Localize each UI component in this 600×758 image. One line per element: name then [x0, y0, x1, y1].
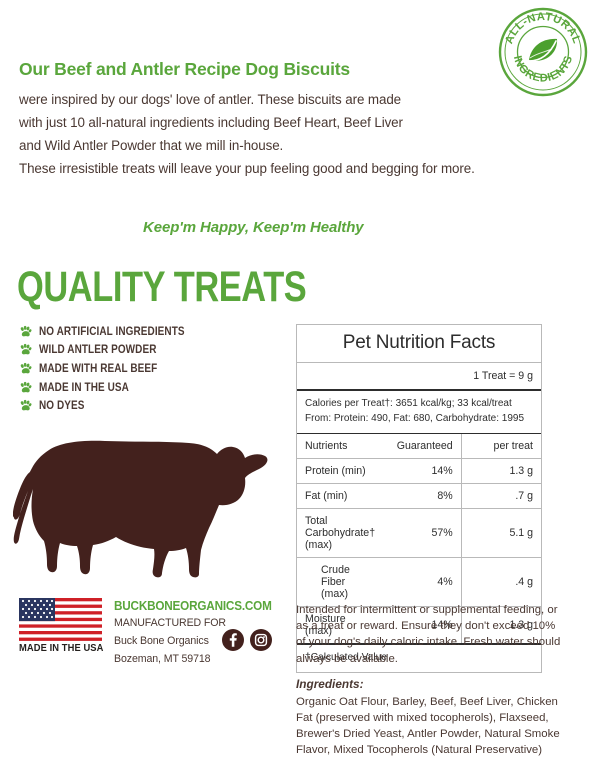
feeding-text: Intended for intermittent or supplementa…: [296, 602, 564, 667]
list-item: NO ARTIFICIAL INGREDIENTS: [19, 322, 274, 341]
list-item: WILD ANTLER POWDER: [19, 341, 274, 360]
cow-svg: [13, 432, 278, 590]
company-address: Bozeman, MT 59718: [114, 652, 244, 667]
social-links: [222, 629, 272, 651]
table-row: Crude Fiber (max) 4% .4 g: [297, 558, 541, 607]
feeding-instructions-block: Intended for intermittent or supplementa…: [296, 602, 564, 758]
nutrient-guaranteed: 14%: [383, 459, 461, 484]
instagram-icon[interactable]: [250, 629, 272, 651]
nutrient-guaranteed: 4%: [383, 558, 461, 607]
intro-line-2: with just 10 all-natural ingredients inc…: [19, 111, 489, 134]
column-header-nutrients: Nutrients: [297, 434, 383, 459]
leaf-icon: [529, 39, 557, 61]
nutrition-panel-title: Pet Nutrition Facts: [297, 325, 541, 362]
column-header-per-treat: per treat: [461, 434, 541, 459]
nutrient-per-treat: 5.1 g: [461, 509, 541, 558]
serving-size: 1 Treat = 9 g: [297, 362, 541, 389]
nutrient-guaranteed: 8%: [383, 484, 461, 509]
calories-block: Calories per Treat†: 3651 kcal/kg; 33 kc…: [297, 389, 541, 433]
table-row: Protein (min) 14% 1.3 g: [297, 459, 541, 484]
calories-line-1: Calories per Treat†: 3651 kcal/kg; 33 kc…: [305, 397, 533, 412]
ingredients-text: Organic Oat Flour, Barley, Beef, Beef Li…: [296, 694, 564, 758]
all-natural-ingredients-badge: ALL-NATURAL INGREDIENTS: [497, 6, 589, 98]
made-in-usa-label: MADE IN THE USA: [19, 643, 94, 654]
feature-label: WILD ANTLER POWDER: [39, 343, 156, 356]
table-row: Total Carbohydrate† (max) 57% 5.1 g: [297, 509, 541, 558]
table-header-row: Nutrients Guaranteed per treat: [297, 434, 541, 459]
nutrient-guaranteed: 57%: [383, 509, 461, 558]
intro-line-3: and Wild Antler Powder that we mill in-h…: [19, 134, 489, 157]
nutrient-per-treat: .4 g: [461, 558, 541, 607]
table-row: Fat (min) 8% .7 g: [297, 484, 541, 509]
website-link[interactable]: BUCKBONEORGANICS.COM: [114, 599, 235, 613]
nutrient-per-treat: 1.3 g: [461, 459, 541, 484]
badge-svg: ALL-NATURAL INGREDIENTS: [497, 6, 589, 98]
feature-label: MADE WITH REAL BEEF: [39, 362, 157, 375]
list-item: NO DYES: [19, 396, 274, 415]
nutrient-name: Fat (min): [297, 484, 383, 509]
calories-line-2: From: Protein: 490, Fat: 680, Carbohydra…: [305, 412, 533, 427]
nutrient-name: Crude Fiber (max): [297, 558, 383, 607]
feature-label: NO ARTIFICIAL INGREDIENTS: [39, 325, 185, 338]
list-item: MADE WITH REAL BEEF: [19, 359, 274, 378]
feature-label: MADE IN THE USA: [39, 381, 129, 394]
intro-line-1: were inspired by our dogs' love of antle…: [19, 88, 489, 111]
facebook-icon[interactable]: [222, 629, 244, 651]
paw-print-icon: [19, 381, 32, 394]
feature-list: NO ARTIFICIAL INGREDIENTS WILD ANTLER PO…: [19, 322, 274, 415]
column-header-guaranteed: Guaranteed: [383, 434, 461, 459]
paw-print-icon: [19, 343, 32, 356]
product-label-page: ALL-NATURAL INGREDIENTS Our Beef and Ant…: [0, 0, 600, 755]
quality-treats-heading: QUALITY TREATS: [17, 266, 306, 309]
paw-print-icon: [19, 362, 32, 375]
svg-text:ALL-NATURAL: ALL-NATURAL: [503, 11, 583, 46]
nutrient-per-treat: .7 g: [461, 484, 541, 509]
cow-silhouette-icon: [13, 432, 278, 590]
feature-label: NO DYES: [39, 399, 84, 412]
us-flag-icon: [19, 598, 102, 641]
us-flag-block: MADE IN THE USA: [19, 598, 102, 654]
tagline: Keep'm Happy, Keep'm Healthy: [143, 219, 364, 236]
nutrient-name: Total Carbohydrate† (max): [297, 509, 383, 558]
page-title: Our Beef and Antler Recipe Dog Biscuits: [19, 60, 489, 79]
intro-block: Our Beef and Antler Recipe Dog Biscuits …: [19, 60, 489, 180]
list-item: MADE IN THE USA: [19, 378, 274, 397]
nutrient-name: Protein (min): [297, 459, 383, 484]
ingredients-label: Ingredients:: [296, 676, 564, 693]
intro-line-4: These irresistible treats will leave you…: [19, 157, 489, 180]
paw-print-icon: [19, 325, 32, 338]
paw-print-icon: [19, 399, 32, 412]
